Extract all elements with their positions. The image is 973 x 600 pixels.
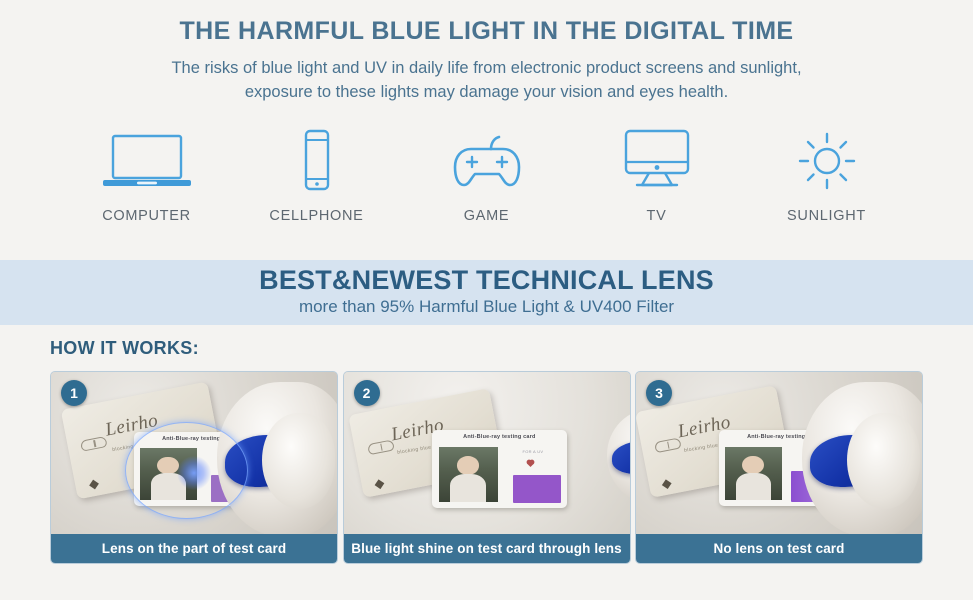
- step-photo-1: Leirho blocking blue light Anti-Blue-ray…: [51, 372, 337, 534]
- hero-subtitle: The risks of blue light and UV in daily …: [0, 56, 973, 106]
- hero-section: THE HARMFUL BLUE LIGHT IN THE DIGITAL TI…: [0, 0, 973, 105]
- source-label-computer: COMPUTER: [62, 208, 232, 224]
- sun-icon: [742, 129, 912, 191]
- glove-thumb: [262, 413, 336, 509]
- source-item-sunlight: SUNLIGHT: [742, 129, 912, 224]
- gamepad-icon: [402, 129, 572, 191]
- blue-lens: [612, 441, 629, 474]
- test-card-swatch: [513, 475, 561, 503]
- test-card-portrait: [725, 447, 782, 500]
- glasses-icon: [81, 436, 109, 452]
- blue-light-sources-row: COMPUTER CELLPHONE: [0, 129, 973, 224]
- step-photo-3: Leirho blocking blue light Anti-Blue-ray…: [636, 372, 922, 534]
- how-it-works-section: HOW IT WORKS: 1 Leirho blocking blue lig…: [0, 338, 973, 564]
- brand-chip: [375, 479, 385, 489]
- source-item-computer: COMPUTER: [62, 129, 232, 224]
- step-caption-3: No lens on test card: [636, 534, 922, 563]
- brand-chip: [89, 479, 99, 489]
- source-label-game: GAME: [402, 208, 572, 224]
- how-it-works-label: HOW IT WORKS:: [50, 338, 973, 359]
- step-card-1[interactable]: 1 Leirho blocking blue light Anti-Blue-r…: [50, 371, 338, 564]
- step-badge-2: 2: [354, 380, 380, 406]
- step-badge-3: 3: [646, 380, 672, 406]
- step-card-3[interactable]: 3 Leirho blocking blue light Anti-Blue-r…: [635, 371, 923, 564]
- source-label-cellphone: CELLPHONE: [232, 208, 402, 224]
- steps-card-row: 1 Leirho blocking blue light Anti-Blue-r…: [0, 371, 973, 564]
- heart-icon: [527, 460, 534, 467]
- source-item-tv: TV: [572, 129, 742, 224]
- test-card-line-1: FOR A UV: [505, 449, 561, 454]
- step-caption-2: Blue light shine on test card through le…: [344, 534, 630, 563]
- monitor-icon: [572, 129, 742, 191]
- source-label-tv: TV: [572, 208, 742, 224]
- hero-subtitle-line-2: exposure to these lights may damage your…: [0, 80, 973, 105]
- test-card-portrait: [439, 447, 498, 501]
- technical-lens-banner: BEST&NEWEST TECHNICAL LENS more than 95%…: [0, 260, 973, 325]
- step-badge-1: 1: [61, 380, 87, 406]
- step-card-2[interactable]: 2 Leirho blocking blue light Anti-Blue-r…: [343, 371, 631, 564]
- source-item-game: GAME: [402, 129, 572, 224]
- page-title: THE HARMFUL BLUE LIGHT IN THE DIGITAL TI…: [0, 18, 973, 46]
- test-card: Anti-Blue-ray testing card FOR A UV: [432, 430, 566, 508]
- source-label-sunlight: SUNLIGHT: [742, 208, 912, 224]
- banner-title: BEST&NEWEST TECHNICAL LENS: [0, 265, 973, 296]
- glasses-icon: [367, 440, 395, 456]
- step-caption-1: Lens on the part of test card: [51, 534, 337, 563]
- gloved-hand: [802, 382, 922, 534]
- glasses-icon: [654, 438, 682, 454]
- hero-subtitle-line-1: The risks of blue light and UV in daily …: [0, 56, 973, 81]
- laptop-icon: [62, 129, 232, 191]
- glove-thumb: [847, 413, 921, 509]
- smartphone-icon: [232, 129, 402, 191]
- banner-subtitle: more than 95% Harmful Blue Light & UV400…: [0, 297, 973, 317]
- blue-light-glow: [177, 456, 211, 490]
- test-card-title: Anti-Blue-ray testing card: [432, 434, 566, 440]
- brand-chip: [662, 479, 672, 489]
- step-photo-2: Leirho blocking blue light Anti-Blue-ray…: [344, 372, 630, 534]
- promo-page: THE HARMFUL BLUE LIGHT IN THE DIGITAL TI…: [0, 0, 973, 600]
- source-item-cellphone: CELLPHONE: [232, 129, 402, 224]
